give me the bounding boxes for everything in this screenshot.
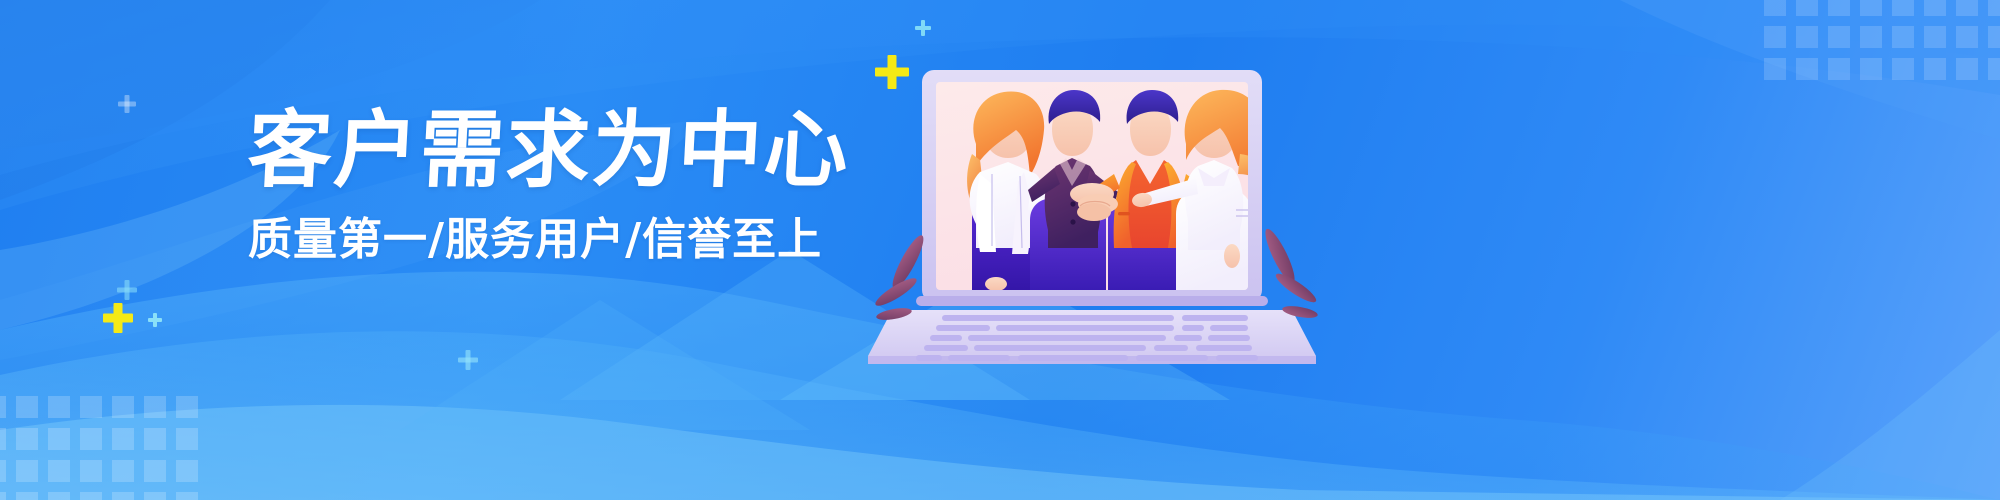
square-grid-bottom-left [0,396,198,500]
leaf-sprig-right [1261,226,1320,320]
banner-text-block: 客户需求为中心 质量第一/服务用户/信誉至上 [248,108,808,264]
square-grid-top-right [1764,0,2000,80]
plus-cyan-faint-mid-icon [117,280,137,300]
plus-white-faint-left-icon [118,95,136,113]
laptop-team-illustration [880,34,1350,374]
plus-yellow-large-bottom-icon [103,303,133,333]
banner-subtitle: 质量第一/服务用户/信誉至上 [248,216,808,264]
laptop-hinge [916,296,1268,306]
leaf-sprig-left [872,232,928,322]
plus-cyan-faint-lower-icon [458,350,478,370]
banner-headline: 客户需求为中心 [246,108,810,194]
promo-banner: 客户需求为中心 质量第一/服务用户/信誉至上 [0,0,2000,500]
plus-cyan-tiny-bottom-icon [148,313,162,327]
